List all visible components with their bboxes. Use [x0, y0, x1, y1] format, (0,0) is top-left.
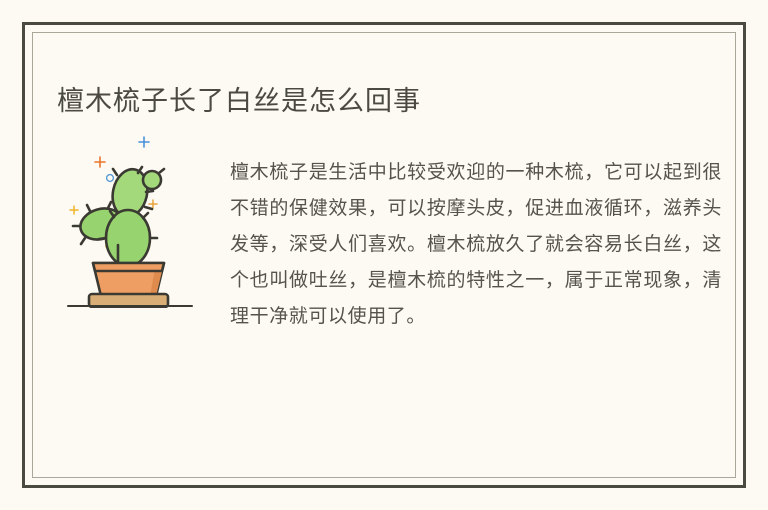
cactus-bud-top-right — [143, 169, 164, 189]
article-card-page: 檀木梳子长了白丝是怎么回事 — [0, 0, 768, 510]
article-body-region: 檀木梳子是生活中比较受欢迎的一种木梳，它可以起到很不错的保健效果，可以按摩头皮，… — [32, 128, 736, 428]
sparkle-blue-ring-icon — [107, 175, 114, 182]
page-title: 檀木梳子长了白丝是怎么回事 — [57, 82, 421, 120]
potted-cactus-icon — [60, 128, 220, 308]
plant-pot — [93, 263, 164, 296]
article-body-text: 檀木梳子是生活中比较受欢迎的一种木梳，它可以起到很不错的保健效果，可以按摩头皮，… — [230, 155, 722, 335]
sparkle-yellow-dot-icon — [70, 206, 78, 214]
sparkle-orange-dot-icon — [149, 200, 157, 208]
card-content: 檀木梳子长了白丝是怎么回事 — [32, 32, 736, 478]
sparkle-orange-star-icon — [95, 157, 105, 167]
cactus-illustration — [60, 128, 220, 308]
sparkle-blue-plus-icon — [139, 137, 149, 147]
